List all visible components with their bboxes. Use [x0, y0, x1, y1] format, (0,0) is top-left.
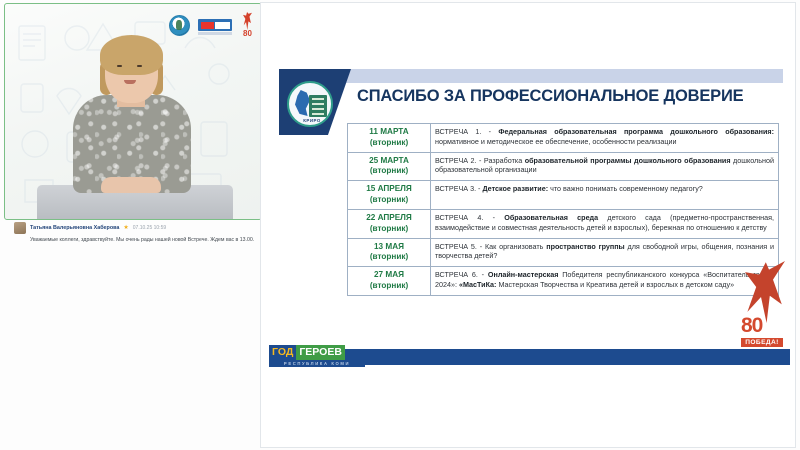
god-geroev-logo-small-icon [198, 19, 232, 31]
meeting-date: 27 МАЯ [352, 270, 426, 281]
table-cell-date: 25 МАРТА (вторник) [348, 152, 431, 181]
table-cell-description: ВСТРЕЧА 3. - Детское развитие: что важно… [431, 181, 779, 210]
god-geroev-word2: ГЕРОЕВ [296, 345, 345, 360]
schedule-table-body: 11 МАРТА (вторник) ВСТРЕЧА 1. - Федераль… [348, 124, 779, 296]
pobeda-80-logo-small-icon: 80 [240, 12, 255, 38]
table-cell-description: ВСТРЕЧА 1. - Федеральная образовательная… [431, 124, 779, 153]
table-cell-description: ВСТРЕЧА 5. - Как организовать пространст… [431, 238, 779, 267]
kriro-logo-label: КРИРО [289, 118, 333, 123]
table-row: 22 АПРЕЛЯ (вторник) ВСТРЕЧА 4. - Образов… [348, 209, 779, 238]
table-cell-date: 15 АПРЕЛЯ (вторник) [348, 181, 431, 210]
meeting-weekday: (вторник) [352, 138, 426, 149]
shared-slide-panel[interactable]: КРИРО СПАСИБО ЗА ПРОФЕССИОНАЛЬНОЕ ДОВЕРИ… [260, 2, 796, 448]
meeting-weekday: (вторник) [352, 195, 426, 206]
kriro-logo-small-icon [169, 15, 190, 36]
avatar [14, 222, 26, 234]
video-tile-presenter[interactable]: 80 [4, 3, 262, 220]
table-cell-date: 13 МАЯ (вторник) [348, 238, 431, 267]
video-logo-row: 80 [169, 12, 255, 38]
table-row: 13 МАЯ (вторник) ВСТРЕЧА 5. - Как органи… [348, 238, 779, 267]
slide-footer-bar [301, 349, 790, 365]
table-cell-date: 11 МАРТА (вторник) [348, 124, 431, 153]
table-row: 27 МАЯ (вторник) ВСТРЕЧА 6. - Онлайн-мас… [348, 267, 779, 296]
god-geroev-logo: ГОД ГЕРОЕВ РЕСПУБЛИКА КОМИ [269, 345, 365, 368]
meeting-date: 13 МАЯ [352, 242, 426, 253]
victory-number: 80 [741, 318, 789, 335]
table-cell-date: 27 МАЯ (вторник) [348, 267, 431, 296]
table-cell-date: 22 АПРЕЛЯ (вторник) [348, 209, 431, 238]
meeting-weekday: (вторник) [352, 166, 426, 177]
god-geroev-subtitle: РЕСПУБЛИКА КОМИ [269, 360, 365, 368]
chat-message-text: Уважаемые коллеги, здравствуйте. Мы очен… [30, 236, 256, 244]
title-background-band [335, 69, 783, 83]
table-cell-description: ВСТРЕЧА 2. - Разработка образовательной … [431, 152, 779, 181]
kriro-logo-badge: КРИРО [279, 69, 351, 135]
table-cell-description: ВСТРЕЧА 4. - Образовательная среда детск… [431, 209, 779, 238]
table-cell-description: ВСТРЕЧА 6. - Онлайн-мастерская Победител… [431, 267, 779, 296]
schedule-table: 11 МАРТА (вторник) ВСТРЕЧА 1. - Федераль… [347, 123, 779, 296]
meeting-date: 11 МАРТА [352, 127, 426, 138]
chat-message: Татьяна Валерьяновна Хаберова ★ 07.10.25… [14, 222, 256, 244]
meeting-weekday: (вторник) [352, 224, 426, 235]
meeting-date: 15 АПРЕЛЯ [352, 184, 426, 195]
screen-root: 80 Татьяна Валерьяновна Хаберова ★ 07.10… [0, 0, 800, 450]
presenter-figure [67, 44, 197, 219]
kriro-emblem-icon: КРИРО [287, 81, 333, 127]
star-icon: ★ [123, 225, 128, 231]
meeting-date: 25 МАРТА [352, 156, 426, 167]
victory-80-emblem: 80 ПОБЕДА! [741, 261, 789, 349]
god-geroev-word1: ГОД [269, 345, 296, 360]
pobeda-80-number: 80 [240, 29, 255, 38]
slide-title: СПАСИБО ЗА ПРОФЕССИОНАЛЬНОЕ ДОВЕРИЕ [357, 87, 787, 106]
victory-word: ПОБЕДА! [741, 338, 783, 347]
chat-author-name[interactable]: Татьяна Валерьяновна Хаберова [30, 225, 119, 231]
table-row: 11 МАРТА (вторник) ВСТРЕЧА 1. - Федераль… [348, 124, 779, 153]
meeting-date: 22 АПРЕЛЯ [352, 213, 426, 224]
chat-timestamp: 07.10.25 10:59 [133, 225, 166, 231]
table-row: 15 АПРЕЛЯ (вторник) ВСТРЕЧА 3. - Детское… [348, 181, 779, 210]
chat-message-header: Татьяна Валерьяновна Хаберова ★ 07.10.25… [14, 222, 256, 234]
meeting-weekday: (вторник) [352, 252, 426, 263]
meeting-weekday: (вторник) [352, 281, 426, 292]
table-row: 25 МАРТА (вторник) ВСТРЕЧА 2. - Разработ… [348, 152, 779, 181]
